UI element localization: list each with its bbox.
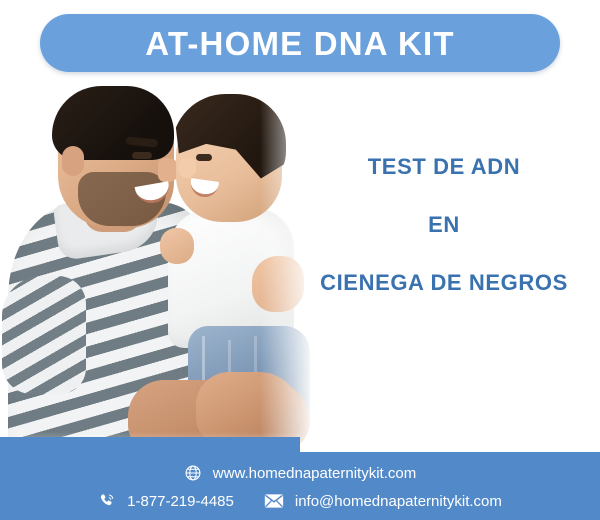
email-item[interactable]: info@homednapaternitykit.com	[264, 493, 502, 509]
header-banner: AT-HOME DNA KIT	[40, 14, 560, 72]
globe-icon	[184, 464, 202, 482]
contact-rows: www.homednapaternitykit.com 1-877-219-44…	[0, 464, 600, 514]
contact-footer: www.homednapaternitykit.com 1-877-219-44…	[0, 437, 600, 520]
contact-row-phone-email: 1-877-219-4485 info@homednapaternitykit.…	[0, 492, 600, 510]
headline-line-3: CIENEGA DE NEGROS	[296, 272, 592, 294]
header-title: AT-HOME DNA KIT	[145, 27, 454, 60]
email-label: info@homednapaternitykit.com	[295, 494, 502, 509]
man-ear	[62, 146, 84, 176]
website-label: www.homednapaternitykit.com	[213, 466, 416, 481]
man-sleeve	[2, 276, 86, 394]
phone-label: 1-877-219-4485	[127, 494, 234, 509]
headline-block: TEST DE ADN EN CIENEGA DE NEGROS	[296, 156, 592, 294]
contact-row-website: www.homednapaternitykit.com	[0, 464, 600, 482]
man-eye	[132, 152, 152, 159]
child-hand	[160, 228, 194, 264]
child-nose	[178, 158, 196, 178]
phone-item[interactable]: 1-877-219-4485	[98, 492, 234, 510]
poster-canvas: AT-HOME DNA KIT TEST DE ADN EN CIE	[0, 0, 600, 520]
child-eye	[196, 154, 212, 161]
phone-icon	[98, 492, 116, 510]
headline-line-1: TEST DE ADN	[296, 156, 592, 178]
envelope-icon	[264, 493, 284, 509]
website-item[interactable]: www.homednapaternitykit.com	[184, 464, 416, 482]
family-photo	[0, 80, 330, 458]
headline-line-2: EN	[296, 214, 592, 236]
